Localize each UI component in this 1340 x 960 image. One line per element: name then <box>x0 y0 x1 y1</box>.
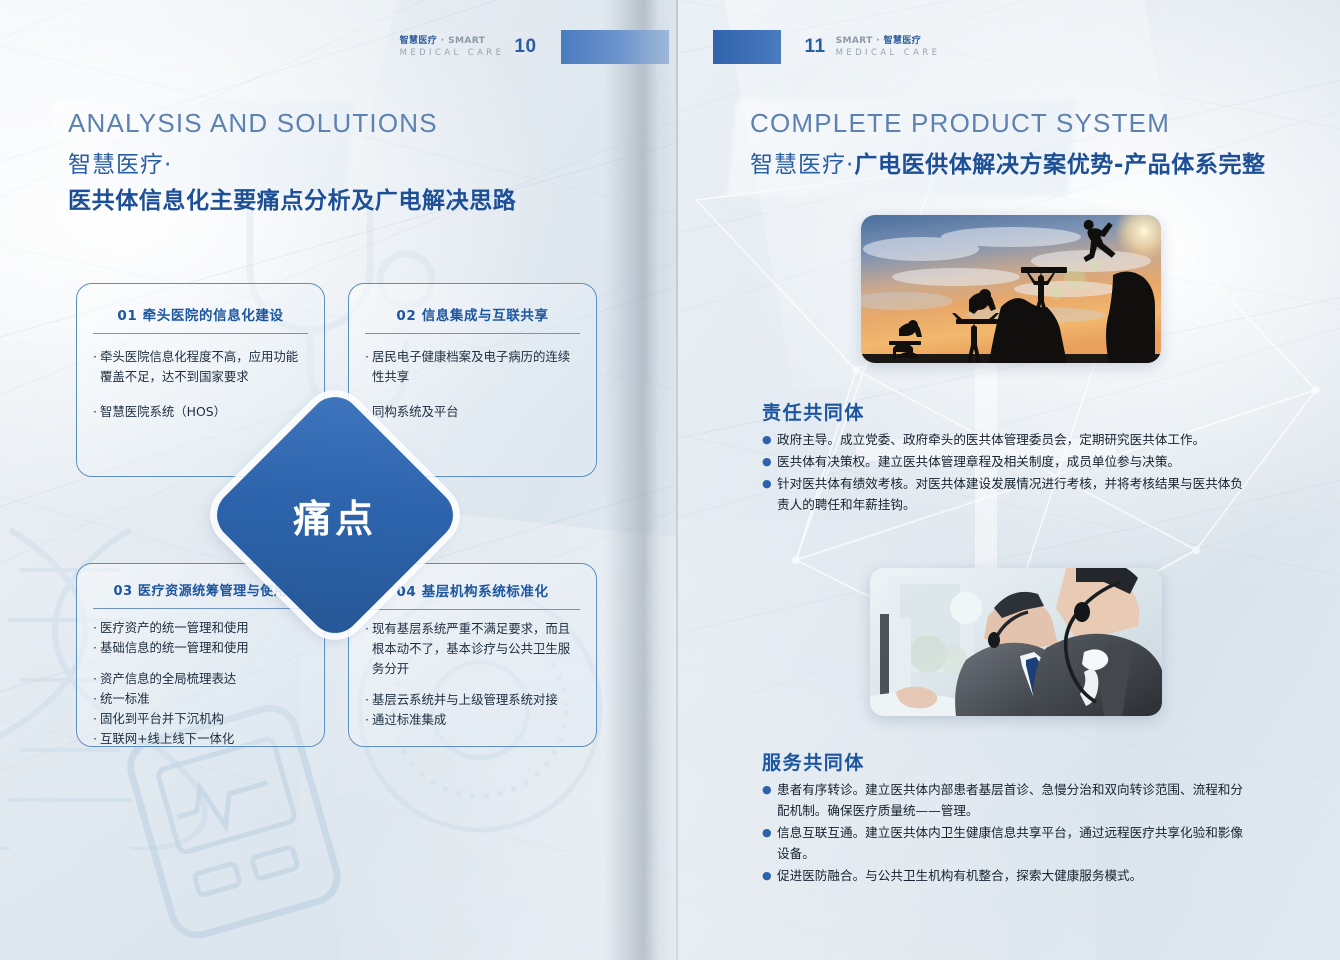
bullet-mark: · <box>93 689 97 709</box>
section-bullet: ●医共体有决策权。建立医共体管理章程及相关制度，成员单位参与决策。 <box>762 452 1248 473</box>
section-bullet: ●促进医防融合。与公共卫生机构有机整合，探索大健康服务模式。 <box>762 866 1248 887</box>
bullet-text: 政府主导。成立党委、政府牵头的医共体管理委员会，定期研究医共体工作。 <box>777 430 1205 451</box>
bullet-mark: · <box>93 729 97 747</box>
bullet-text: 医疗资产的统一管理和使用 <box>100 618 249 638</box>
diamond-label: 痛点 <box>244 424 426 606</box>
bullet-mark: · <box>365 690 369 710</box>
bullet-text: 牵头医院信息化程度不高，应用功能覆盖不足，达不到国家要求 <box>100 347 306 387</box>
bullet-text: 居民电子健康档案及电子病历的连续性共享 <box>372 347 578 387</box>
left-title-cn-1: 智慧医疗· <box>68 145 516 179</box>
bullet-text: 基础信息的统一管理和使用 <box>100 638 249 658</box>
section-heading-service: 服务共同体 <box>762 748 865 775</box>
bullet-mark: ● <box>762 474 777 516</box>
photo-teamwork-cliff <box>861 215 1161 363</box>
bullet-mark: · <box>365 710 369 730</box>
left-page-title: ANALYSIS AND SOLUTIONS 智慧医疗· 医共体信息化主要痛点分… <box>68 108 516 215</box>
pain-point-diamond[interactable]: 痛点 <box>244 424 426 606</box>
bullet-mark: · <box>93 347 97 387</box>
bullet-mark: ● <box>762 823 777 865</box>
card-bullet: ·固化到平台并下沉机构 <box>93 709 306 729</box>
bullet-text: 互联网+线上线下一体化 <box>100 729 234 747</box>
bullet-text: 促进医防融合。与公共卫生机构有机整合，探索大健康服务模式。 <box>777 866 1142 887</box>
bullet-text: 信息互联互通。建立医共体内卫生健康信息共享平台，通过远程医疗共享化验和影像设备。 <box>777 823 1248 865</box>
section-bullet: ●患者有序转诊。建立医共体内部患者基层首诊、急慢分治和双向转诊范围、流程和分配机… <box>762 780 1248 822</box>
card-bullet: ·互联网+线上线下一体化 <box>93 729 306 747</box>
bullet-mark: ● <box>762 866 777 887</box>
section-bullet: ●信息互联互通。建立医共体内卫生健康信息共享平台，通过远程医疗共享化验和影像设备… <box>762 823 1248 865</box>
card-bullet: ·资产信息的全局梳理表达 <box>93 669 306 689</box>
section-body-service: ●患者有序转诊。建立医共体内部患者基层首诊、急慢分治和双向转诊范围、流程和分配机… <box>762 780 1248 887</box>
right-title-en: COMPLETE PRODUCT SYSTEM <box>750 108 1266 139</box>
bullet-mark: · <box>93 618 97 638</box>
section-bullet: ●针对医共体有绩效考核。对医共体建设发展情况进行考核，并将考核结果与医共体负责人… <box>762 474 1248 516</box>
bullet-mark: · <box>93 669 97 689</box>
left-title-en: ANALYSIS AND SOLUTIONS <box>68 108 516 139</box>
bullet-text: 智慧医院系统（HOS） <box>100 402 226 422</box>
bullet-text: 现有基层系统严重不满足要求，而且根本动不了，基本诊疗与公共卫生服务分开 <box>372 619 578 679</box>
bullet-mark: ● <box>762 452 777 473</box>
brochure-spread: 智慧医疗 · SMART MEDICAL CARE 10 11 SMART · … <box>0 0 1340 960</box>
card-bullet: ·医疗资产的统一管理和使用 <box>93 618 306 638</box>
card-title: 01 牵头医院的信息化建设 <box>77 304 324 324</box>
bullet-mark: ● <box>762 430 777 451</box>
card-body: ·牵头医院信息化程度不高，应用功能覆盖不足，达不到国家要求 ·智慧医院系统（HO… <box>77 334 324 422</box>
right-title-cn-lead: 智慧医疗· <box>750 145 854 179</box>
bullet-text: 患者有序转诊。建立医共体内部患者基层首诊、急慢分治和双向转诊范围、流程和分配机制… <box>777 780 1248 822</box>
card-title: 02 信息集成与互联共享 <box>349 304 596 324</box>
bullet-mark: · <box>93 638 97 658</box>
card-body: ·居民电子健康档案及电子病历的连续性共享 ·同构系统及平台 <box>349 334 596 422</box>
card-body: ·现有基层系统严重不满足要求，而且根本动不了，基本诊疗与公共卫生服务分开 ·基层… <box>349 610 596 730</box>
card-bullet: ·现有基层系统严重不满足要求，而且根本动不了，基本诊疗与公共卫生服务分开 <box>365 619 578 679</box>
bullet-text: 基层云系统并与上级管理系统对接 <box>372 690 558 710</box>
photo-call-center <box>870 568 1162 716</box>
right-title-cn-strong: 广电医供体解决方案优势-产品体系完整 <box>854 145 1265 179</box>
bullet-text: 固化到平台并下沉机构 <box>100 709 224 729</box>
card-bullet: ·牵头医院信息化程度不高，应用功能覆盖不足，达不到国家要求 <box>93 347 306 387</box>
section-body-responsibility: ●政府主导。成立党委、政府牵头的医共体管理委员会，定期研究医共体工作。 ●医共体… <box>762 430 1248 517</box>
card-bullet: ·居民电子健康档案及电子病历的连续性共享 <box>365 347 578 387</box>
bullet-mark: ● <box>762 780 777 822</box>
card-bullet: ·智慧医院系统（HOS） <box>93 402 306 422</box>
card-bullet: ·通过标准集成 <box>365 710 578 730</box>
section-heading-responsibility: 责任共同体 <box>762 398 865 425</box>
card-bullet: ·同构系统及平台 <box>365 402 578 422</box>
bullet-mark: · <box>93 402 97 422</box>
card-body: ·医疗资产的统一管理和使用 ·基础信息的统一管理和使用 ·资产信息的全局梳理表达… <box>77 609 324 747</box>
left-title-cn-2: 医共体信息化主要痛点分析及广电解决思路 <box>68 181 516 215</box>
card-bullet: ·基层云系统并与上级管理系统对接 <box>365 690 578 710</box>
bullet-text: 统一标准 <box>100 689 150 709</box>
bullet-mark: · <box>365 347 369 387</box>
card-bullet: ·统一标准 <box>93 689 306 709</box>
bullet-text: 针对医共体有绩效考核。对医共体建设发展情况进行考核，并将考核结果与医共体负责人的… <box>777 474 1248 516</box>
bullet-text: 通过标准集成 <box>372 710 446 730</box>
bullet-text: 资产信息的全局梳理表达 <box>100 669 236 689</box>
section-bullet: ●政府主导。成立党委、政府牵头的医共体管理委员会，定期研究医共体工作。 <box>762 430 1248 451</box>
card-bullet: ·基础信息的统一管理和使用 <box>93 638 306 658</box>
bullet-mark: · <box>365 619 369 679</box>
right-page-title: COMPLETE PRODUCT SYSTEM 智慧医疗· 广电医供体解决方案优… <box>750 108 1266 179</box>
bullet-mark: · <box>93 709 97 729</box>
bullet-text: 同构系统及平台 <box>372 402 459 422</box>
bullet-text: 医共体有决策权。建立医共体管理章程及相关制度，成员单位参与决策。 <box>777 452 1180 473</box>
